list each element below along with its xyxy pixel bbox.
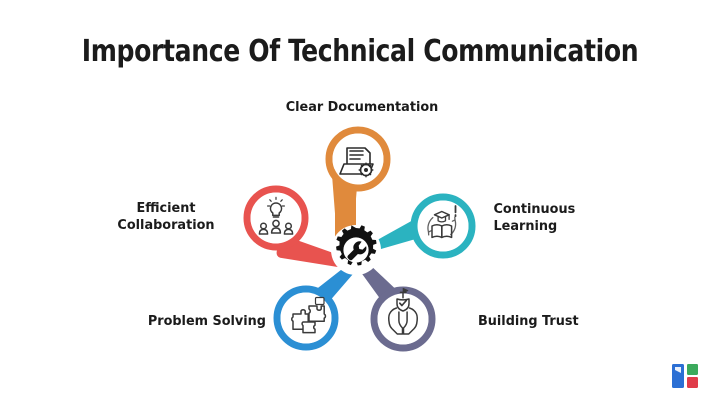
node-building-trust[interactable] xyxy=(374,290,432,348)
label-problem-solving: Problem Solving xyxy=(114,313,266,330)
slide-canvas: Importance Of Technical Communication xyxy=(0,0,720,404)
label-building-trust: Building Trust xyxy=(478,313,630,330)
hub-and-spoke-diagram: Clear Documentation Efficient Collaborat… xyxy=(0,0,720,404)
brand-logo xyxy=(670,360,706,392)
label-efficient-collaboration: Efficient Collaboration xyxy=(100,200,233,235)
center-hub[interactable] xyxy=(331,225,381,275)
label-continuous-learning: Continuous Learning xyxy=(494,201,627,236)
label-clear-documentation: Clear Documentation xyxy=(258,99,467,116)
